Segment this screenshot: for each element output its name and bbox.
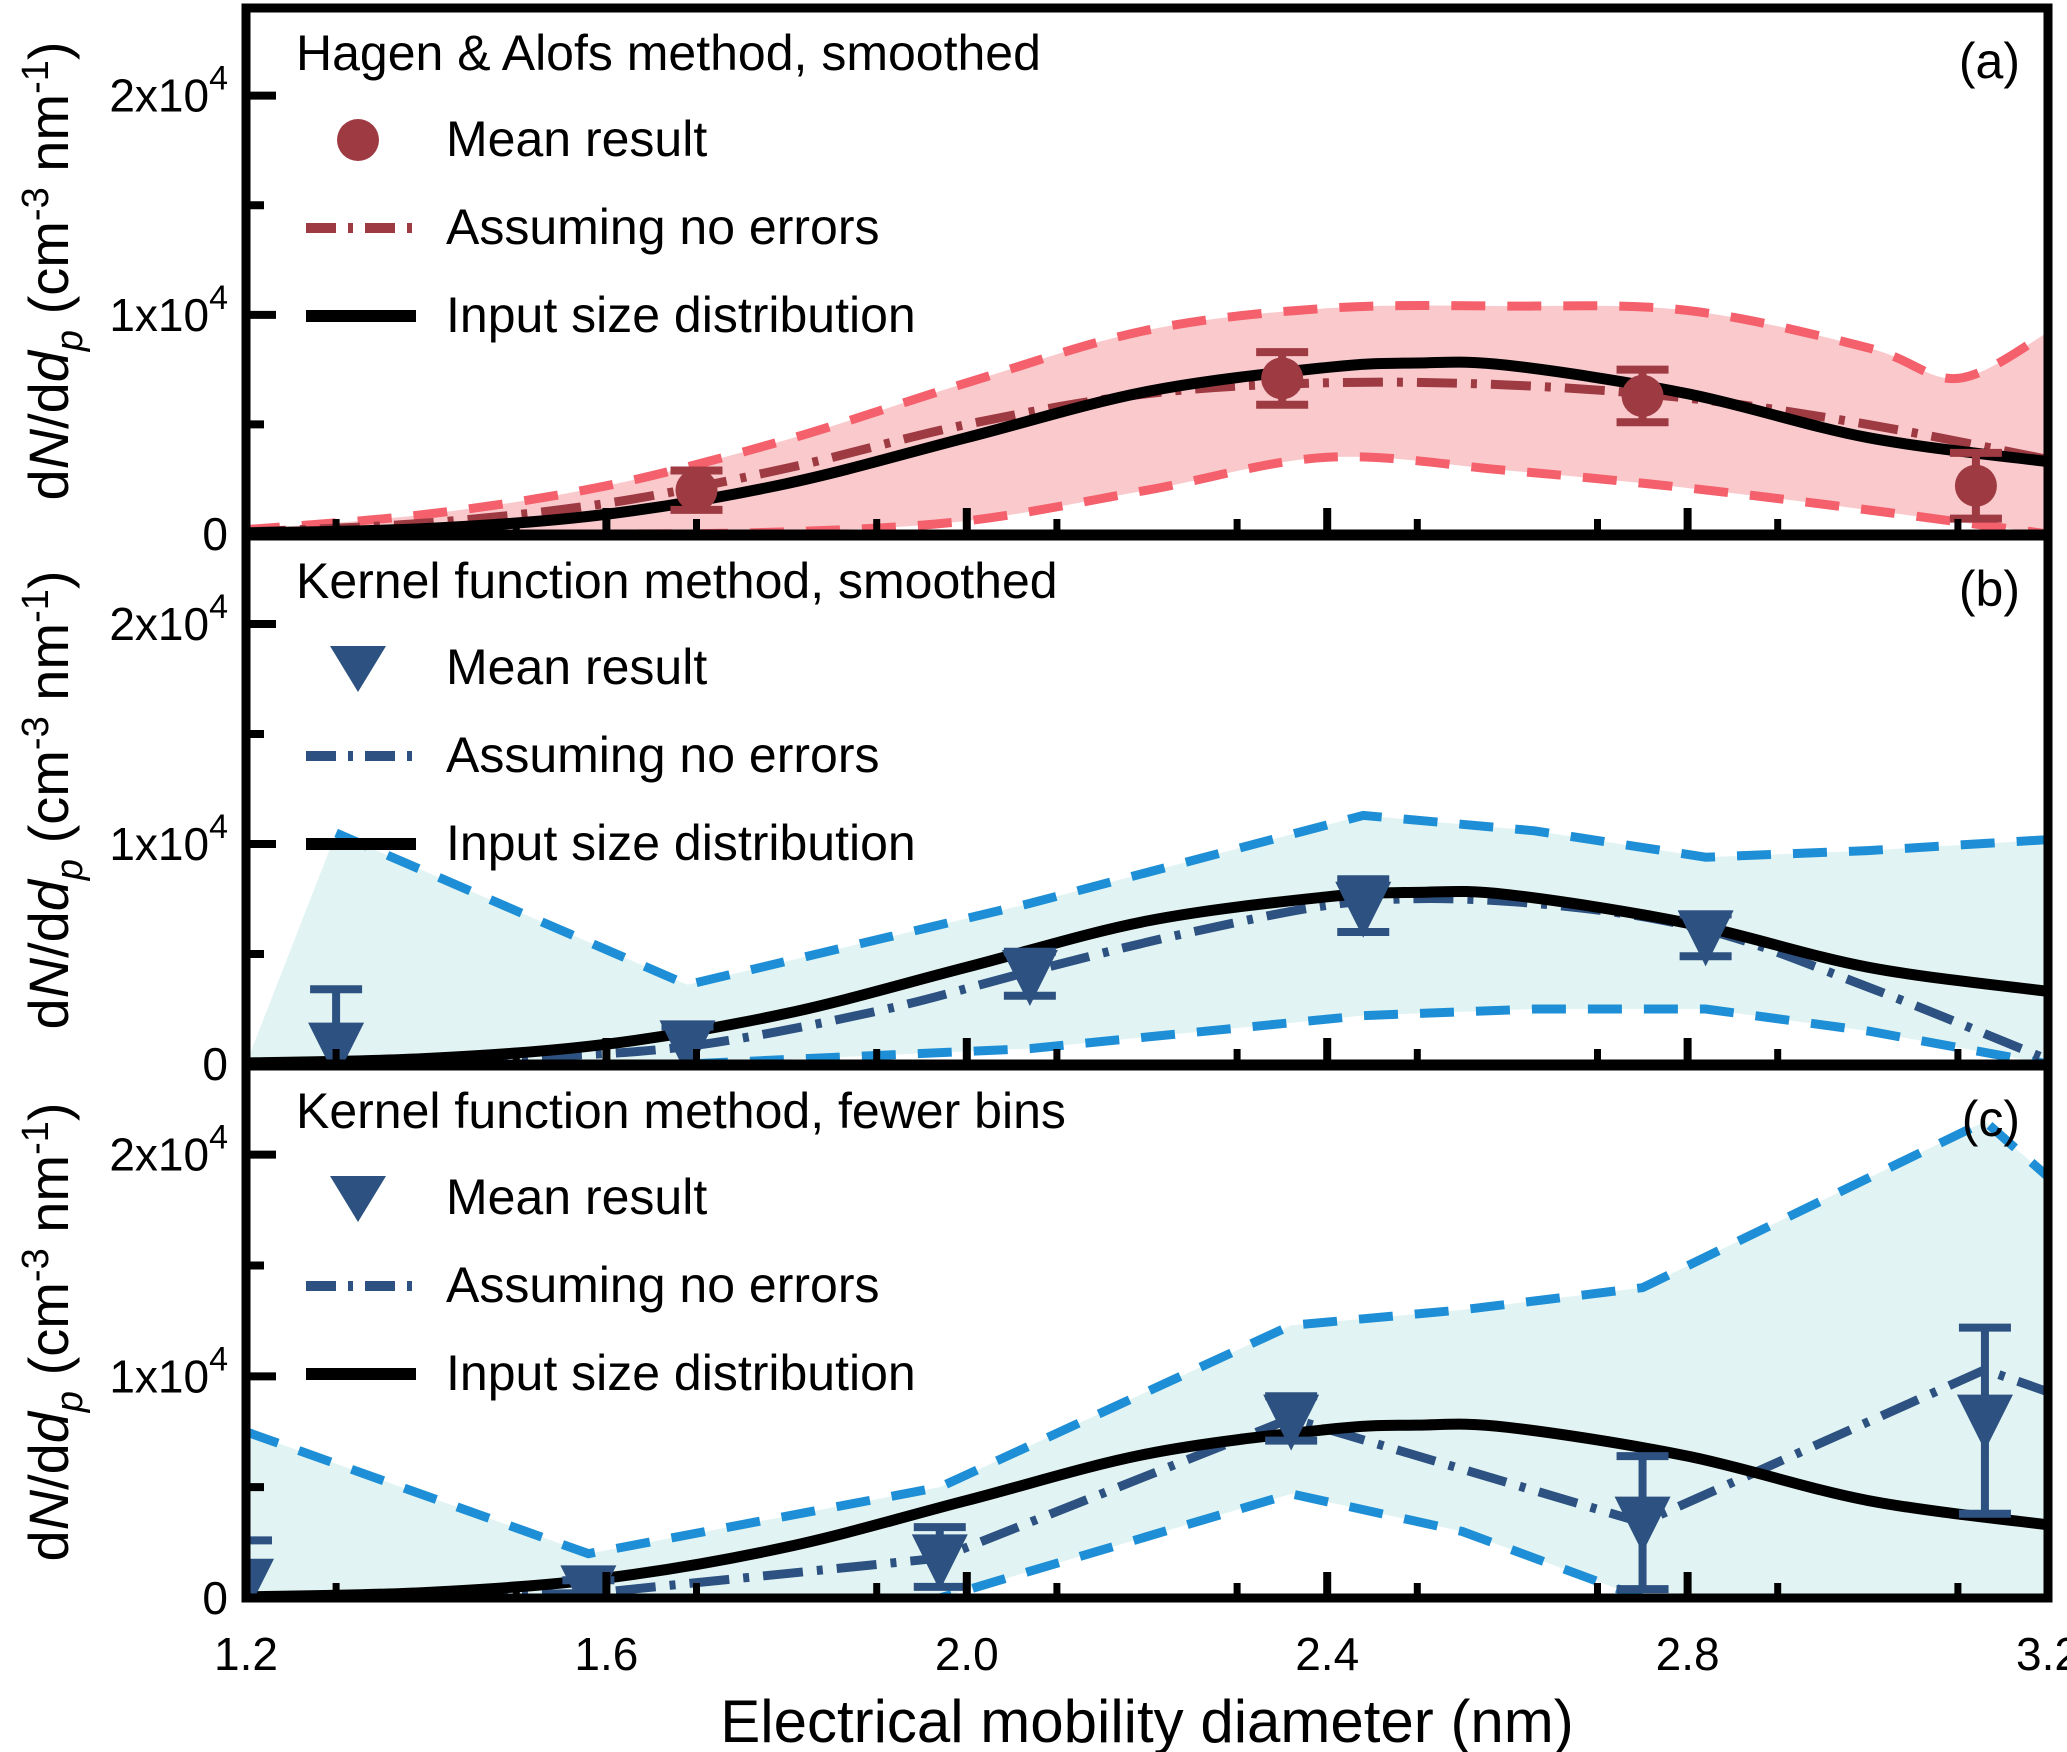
y-axis-label-b: dN/ddp (cm-3 nm-1) bbox=[15, 570, 91, 1029]
legend-label: Assuming no errors bbox=[446, 199, 880, 255]
data-point-marker bbox=[1955, 465, 1997, 507]
x-axis-label: Electrical mobility diameter (nm) bbox=[720, 1688, 1574, 1752]
y-tick-label: 0 bbox=[202, 1038, 228, 1090]
legend-label: Input size distribution bbox=[446, 287, 916, 343]
panel-title-c: Kernel function method, fewer bins bbox=[296, 1083, 1066, 1139]
x-tick-label: 2.8 bbox=[1656, 1628, 1720, 1680]
legend-label: Mean result bbox=[446, 111, 707, 167]
x-tick-label: 3.2 bbox=[2016, 1628, 2067, 1680]
legend-symbol bbox=[337, 119, 379, 161]
figure-root: 01x1042x104(a)Hagen & Alofs method, smoo… bbox=[0, 0, 2067, 1752]
panel-title-b: Kernel function method, smoothed bbox=[296, 553, 1058, 609]
x-tick-label: 1.6 bbox=[574, 1628, 638, 1680]
data-point-marker bbox=[676, 469, 718, 511]
legend-label: Assuming no errors bbox=[446, 1257, 880, 1313]
y-axis-label-c: dN/ddp (cm-3 nm-1) bbox=[15, 1102, 91, 1561]
y-tick-label: 0 bbox=[202, 1572, 228, 1624]
legend-label: Assuming no errors bbox=[446, 727, 880, 783]
data-point-marker bbox=[1261, 357, 1303, 399]
y-tick-label: 0 bbox=[202, 508, 228, 560]
multi-panel-chart: 01x1042x104(a)Hagen & Alofs method, smoo… bbox=[0, 0, 2067, 1752]
legend-label: Mean result bbox=[446, 1169, 707, 1225]
legend-label: Mean result bbox=[446, 639, 707, 695]
legend-circle-icon bbox=[337, 119, 379, 161]
x-tick-label: 2.0 bbox=[935, 1628, 999, 1680]
legend-label: Input size distribution bbox=[446, 1345, 916, 1401]
legend-label: Input size distribution bbox=[446, 815, 916, 871]
chart-canvas: 01x1042x104(a)Hagen & Alofs method, smoo… bbox=[0, 0, 2067, 1752]
x-tick-label: 2.4 bbox=[1295, 1628, 1359, 1680]
x-tick-label: 1.2 bbox=[214, 1628, 278, 1680]
data-point-marker bbox=[1622, 375, 1664, 417]
panel-tag-b: (b) bbox=[1959, 561, 2020, 617]
y-axis-label-a: dN/ddp (cm-3 nm-1) bbox=[15, 41, 91, 500]
panel-tag-c: (c) bbox=[1962, 1091, 2020, 1147]
panel-title-a: Hagen & Alofs method, smoothed bbox=[296, 25, 1041, 81]
panel-tag-a: (a) bbox=[1959, 33, 2020, 89]
